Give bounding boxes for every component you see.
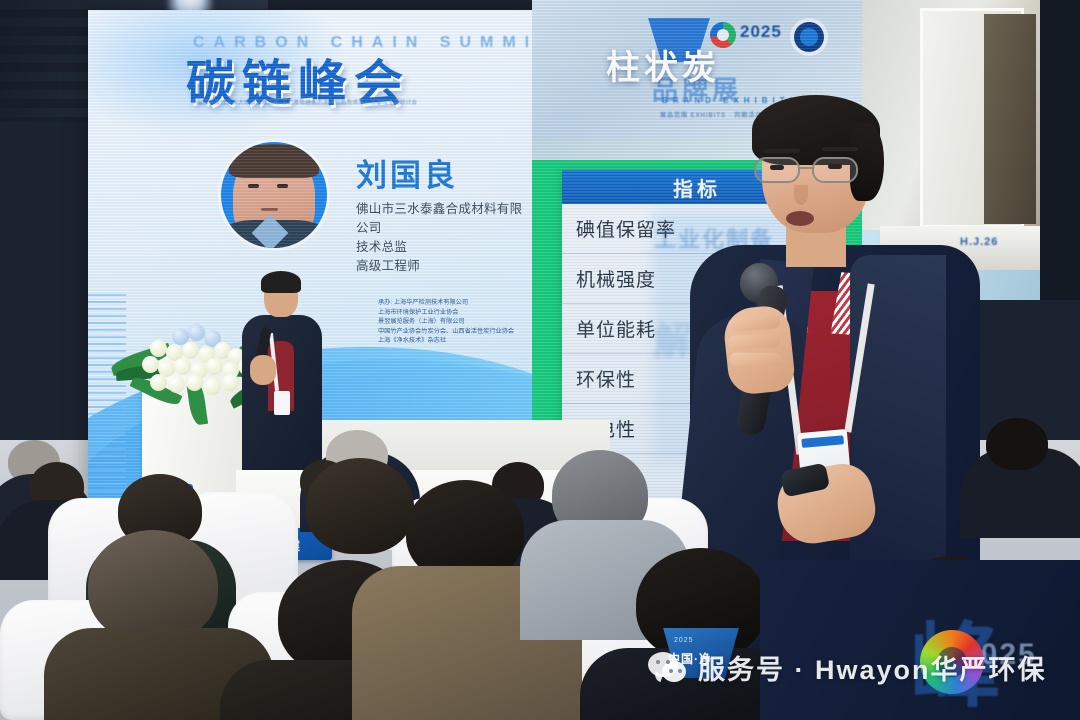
right-slide-title: 柱状炭 [606, 40, 720, 89]
speaker-eye-left [770, 165, 784, 170]
wechat-dot [678, 669, 682, 673]
wechat-dot [669, 669, 673, 673]
booth-doorway [984, 14, 1036, 224]
wechat-dot [656, 660, 660, 664]
audience-head [88, 530, 218, 642]
stage-speaker-figure [236, 275, 332, 475]
avatar [221, 142, 327, 248]
exhibition-circle-icon [794, 22, 824, 52]
badge-header-bar [801, 435, 844, 448]
slide-subtitle: 中国活性炭行业五大峰会高峰论坛·工艺基础研发产学研创新与成果示范基地专题研讨会 [191, 98, 491, 106]
presentation-photo-scene: H.J.26 CARBON CHAIN SUMMIT 碳链峰会 中国活性炭行业五… [0, 0, 1080, 720]
speaker-nose [794, 185, 808, 205]
glasses-bridge [800, 167, 812, 169]
stage-speaker-hair [261, 271, 301, 293]
glasses-icon [754, 157, 876, 183]
audience-head [986, 418, 1048, 470]
wechat-dot [666, 660, 670, 664]
speaker-eye-right [828, 164, 842, 169]
watermark-text: 服务号 · Hwayon华严环保 [698, 648, 1047, 687]
avatar-eye-right [277, 184, 288, 188]
china-pure-logo-year: 2025 [674, 637, 694, 644]
avatar-eye-left [248, 184, 259, 188]
avatar-hair [229, 144, 319, 178]
slide-speaker-meta: 佛山市三水泰鑫合成材料有限公司 技术总监 高级工程师 [356, 200, 532, 276]
wall-dark-edge [1040, 0, 1080, 300]
speaker-finger [728, 334, 780, 349]
avatar-mouth [261, 208, 278, 211]
stage-speaker-badge [274, 391, 290, 415]
slide-speaker-role: 技术总监 [356, 238, 532, 257]
wechat-icon [648, 652, 688, 684]
speaker-brow-left [764, 149, 800, 153]
watermark: 服务号 · Hwayon华严环保 [648, 648, 1047, 687]
slide-speaker-title: 高级工程师 [356, 257, 532, 276]
slide-speaker-name: 刘国良 [356, 150, 458, 195]
slide-speaker-company: 佛山市三水泰鑫合成材料有限公司 [356, 200, 532, 238]
stage-speaker-hand [250, 355, 276, 385]
speaker-brow-right [822, 147, 858, 151]
exhibition-year-badge: 2025 [740, 22, 782, 42]
audience-head [306, 458, 414, 554]
speaker-finger [730, 353, 782, 367]
glasses-lens-right [812, 157, 858, 183]
speaker-mouth [786, 211, 814, 226]
glasses-lens-left [754, 157, 800, 183]
wechat-bubble-small [662, 661, 686, 682]
